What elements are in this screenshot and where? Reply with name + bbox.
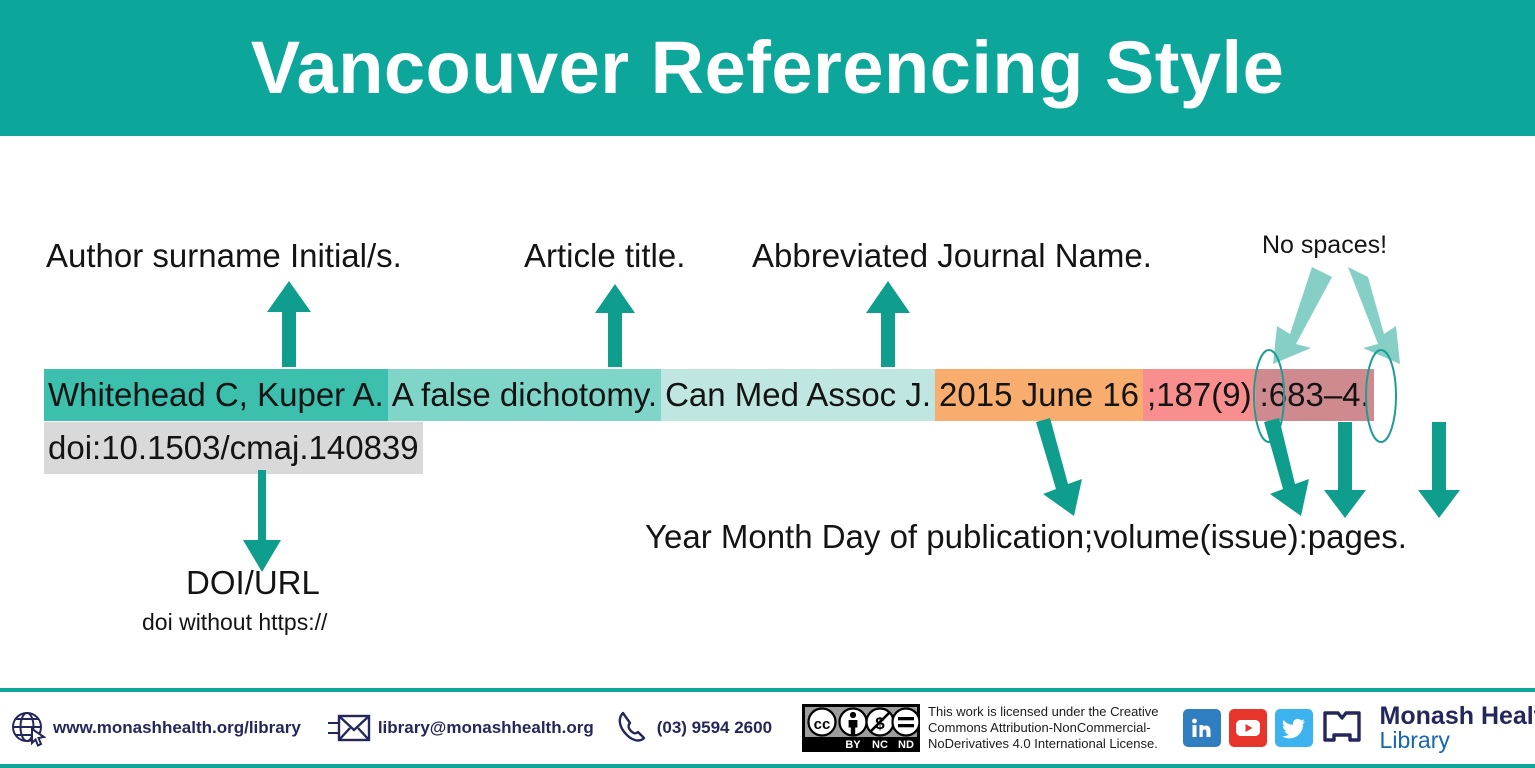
citation-segment-author: Whitehead C, Kuper A. [44,369,388,421]
twitter-icon[interactable] [1275,709,1313,747]
monash-health-library-logo: Monash Health Library [1380,704,1535,752]
arrow-up-journal [866,281,910,367]
twitter-glyph [1282,717,1306,739]
citation-segment-doi: doi:10.1503/cmaj.140839 [44,422,423,474]
phone-icon [616,710,650,746]
svg-text:ND: ND [898,739,914,751]
label-article-title: Article title. [524,238,685,274]
header-banner: Vancouver Referencing Style [0,0,1535,136]
page-title: Vancouver Referencing Style [251,31,1284,105]
svg-text:BY: BY [845,739,861,751]
label-journal-name: Abbreviated Journal Name. [752,238,1152,274]
license-line-3: NoDerivatives 4.0 International License. [928,736,1159,752]
footer-email[interactable]: library@monashhealth.org [327,711,594,745]
footer-license-text: This work is licensed under the Creative… [928,704,1159,752]
linkedin-icon[interactable] [1183,709,1221,747]
open-book-logo-icon [1321,709,1363,747]
citation-segment-title: A false dichotomy. [388,369,661,421]
brand-sub: Library [1380,729,1535,752]
citation-segment-journal: Can Med Assoc J. [661,369,935,421]
license-line-1: This work is licensed under the Creative [928,704,1159,720]
arrow-no-spaces-left [1273,267,1332,364]
footer-email-text: library@monashhealth.org [378,718,594,738]
citation-segment-pages: :683–4. [1256,369,1374,421]
footer-website-text: www.monashhealth.org/library [53,718,301,738]
brand-name: Monash Health [1380,704,1535,729]
globe-icon [10,709,46,747]
arrow-up-title [595,284,635,367]
citation-line-1: Whitehead C, Kuper A. A false dichotomy.… [44,369,1514,421]
label-publication-pattern: Year Month Day of publication;volume(iss… [645,519,1407,555]
label-doi-url: DOI/URL [186,565,320,601]
footer: www.monashhealth.org/library library@mon… [0,688,1535,768]
arrow-up-author [267,281,311,367]
citation-segment-date: 2015 June 16 [935,369,1143,421]
arrow-no-spaces-right [1348,267,1400,364]
envelope-icon [327,711,371,745]
footer-license[interactable]: cc $ BY NC ND This work is licensed un [802,704,1159,752]
footer-divider-bottom [0,764,1535,768]
footer-social-group: Monash Health Library [1183,704,1535,752]
svg-text:cc: cc [814,716,831,733]
linkedin-glyph [1190,716,1214,740]
footer-phone-text: (03) 9594 2600 [657,718,772,738]
footer-phone[interactable]: (03) 9594 2600 [616,710,772,746]
svg-text:NC: NC [872,739,888,751]
label-doi-sublabel: doi without https:// [142,610,327,635]
creative-commons-icon: cc $ BY NC ND [802,704,920,752]
footer-website[interactable]: www.monashhealth.org/library [10,709,301,747]
youtube-glyph [1235,718,1261,738]
license-line-2: Commons Attribution-NonCommercial- [928,720,1159,736]
youtube-icon[interactable] [1229,709,1267,747]
arrow-down-doi [243,470,281,572]
citation-example: Whitehead C, Kuper A. A false dichotomy.… [44,369,1514,474]
citation-line-2: doi:10.1503/cmaj.140839 [44,421,1514,474]
label-no-spaces: No spaces! [1262,232,1387,260]
citation-segment-volume: ;187(9) [1143,369,1256,421]
label-author-surname: Author surname Initial/s. [46,238,402,274]
